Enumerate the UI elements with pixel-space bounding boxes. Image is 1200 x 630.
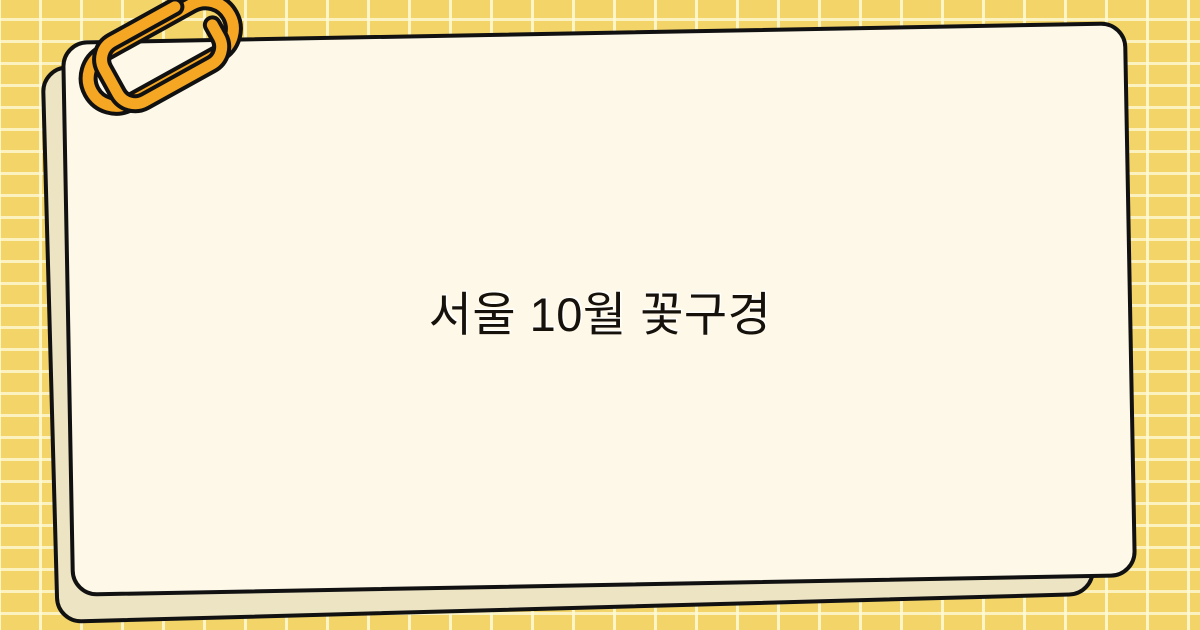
- poster-canvas: 서울 10월 꽃구경: [0, 0, 1200, 630]
- paperclip-icon: [66, 0, 255, 125]
